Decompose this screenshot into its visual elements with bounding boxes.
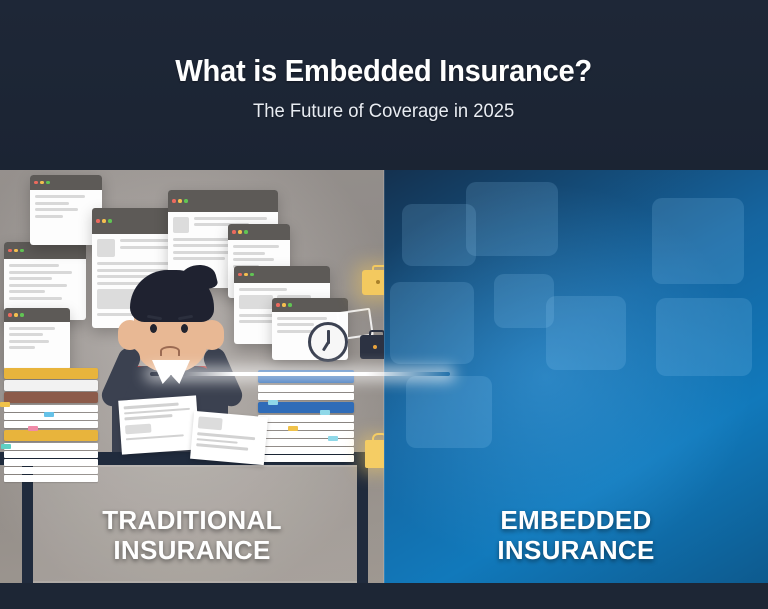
window-titlebar bbox=[234, 266, 330, 283]
light-beam bbox=[150, 372, 450, 376]
hand-left bbox=[118, 320, 142, 350]
window-content bbox=[4, 259, 86, 308]
label-line-2: INSURANCE bbox=[0, 535, 384, 565]
worried-mouth bbox=[160, 346, 180, 356]
window-titlebar bbox=[272, 298, 348, 312]
briefcase-icon bbox=[360, 335, 384, 359]
label-line-1: EMBEDDED bbox=[384, 505, 768, 535]
loose-paper bbox=[118, 395, 200, 454]
person-hair bbox=[130, 270, 214, 322]
eye-left bbox=[150, 324, 157, 333]
label-line-2: INSURANCE bbox=[384, 535, 768, 565]
yellow-briefcase-icon bbox=[362, 270, 384, 295]
window-titlebar bbox=[168, 190, 278, 212]
shopping-bag-icon bbox=[365, 440, 384, 468]
window-titlebar bbox=[228, 224, 290, 240]
loose-paper bbox=[190, 411, 268, 465]
eye-right bbox=[181, 324, 188, 333]
window-content bbox=[4, 322, 70, 358]
page-title: What is Embedded Insurance? bbox=[176, 53, 593, 89]
comparison-stage: BUY NOW INSTANT COVERAGE TRADITIONAL INS… bbox=[0, 170, 768, 583]
window-titlebar bbox=[30, 175, 102, 190]
infographic-poster: What is Embedded Insurance? The Future o… bbox=[0, 0, 768, 609]
header-banner: What is Embedded Insurance? The Future o… bbox=[0, 0, 768, 170]
window-titlebar bbox=[4, 308, 70, 322]
embedded-insurance-label: EMBEDDED INSURANCE bbox=[384, 505, 768, 565]
browser-window bbox=[4, 308, 70, 370]
label-line-1: TRADITIONAL bbox=[0, 505, 384, 535]
page-subtitle: The Future of Coverage in 2025 bbox=[253, 101, 514, 123]
traditional-insurance-label: TRADITIONAL INSURANCE bbox=[0, 505, 384, 565]
hand-right bbox=[200, 320, 224, 350]
clock-icon bbox=[308, 322, 348, 362]
footer-bar bbox=[0, 583, 768, 609]
